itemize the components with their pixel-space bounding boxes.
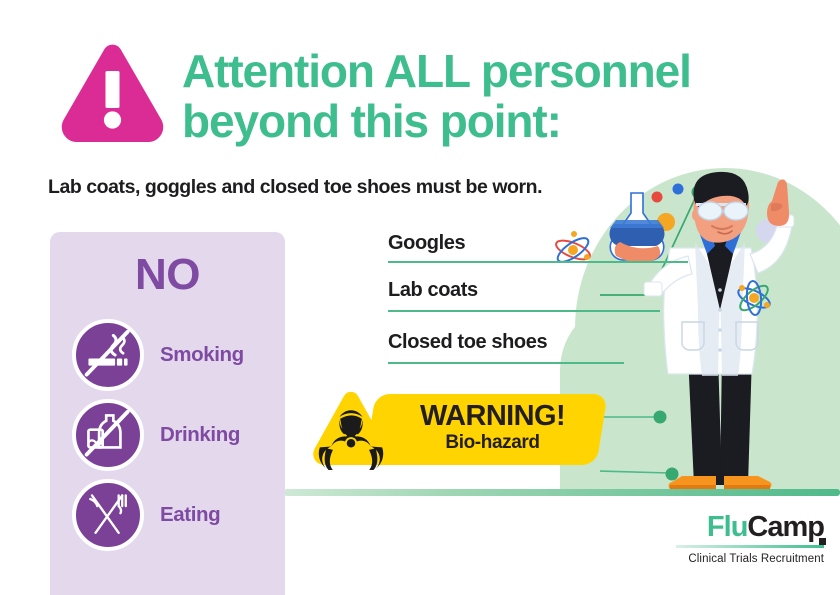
no-drinking-icon (72, 399, 144, 471)
logo-flu: Flu (707, 511, 748, 543)
headline-line-1: Attention ALL personnel (182, 45, 691, 97)
prohibition-label: Drinking (160, 423, 240, 447)
banner-title: WARNING! (390, 400, 595, 432)
requirement-label: Lab coats (388, 279, 478, 302)
requirement-label: Googles (388, 232, 465, 255)
banner-text: WARNING! Bio-hazard (390, 400, 595, 454)
flucamp-logo: FluCamp Clinical Trials Recruitment (656, 512, 824, 565)
no-smoking-icon (72, 319, 144, 391)
no-eating-icon (72, 479, 144, 551)
poster-canvas: Attention ALL personnel beyond this poin… (0, 0, 840, 595)
page-title: Attention ALL personnel beyond this poin… (182, 46, 822, 146)
biohazard-warning-banner: WARNING! Bio-hazard (312, 390, 602, 470)
logo-wordmark: FluCamp (656, 512, 824, 542)
headline-line-2: beyond this point: (182, 96, 822, 146)
scientist-with-flask-illustration (600, 170, 840, 495)
logo-underline (676, 545, 824, 548)
requirement-rule (388, 261, 688, 263)
subheadline: Lab coats, goggles and closed toe shoes … (48, 176, 542, 199)
biohazard-icon (312, 390, 390, 470)
prohibition-row-smoking: Smoking (72, 319, 244, 391)
logo-camp: Camp (747, 511, 824, 543)
prohibition-label: Eating (160, 503, 220, 527)
logo-tagline: Clinical Trials Recruitment (656, 553, 824, 565)
requirement-item-closed-toe-shoes: Closed toe shoes (388, 331, 547, 354)
banner-subtitle: Bio-hazard (390, 432, 595, 454)
requirement-item-goggles: Googles (388, 232, 465, 255)
requirement-item-lab-coats: Lab coats (388, 279, 478, 302)
prohibition-row-eating: Eating (72, 479, 220, 551)
prohibition-row-drinking: Drinking (72, 399, 240, 471)
requirement-rule (388, 310, 660, 312)
requirement-label: Closed toe shoes (388, 331, 547, 354)
prohibition-label: Smoking (160, 343, 244, 367)
ground-line (284, 489, 840, 496)
requirement-rule (388, 362, 624, 364)
logo-square-mark (819, 538, 826, 545)
prohibitions-panel: NO Smoking (50, 232, 285, 595)
prohibitions-title: NO (50, 250, 285, 300)
warning-triangle-exclamation-icon (60, 42, 165, 142)
